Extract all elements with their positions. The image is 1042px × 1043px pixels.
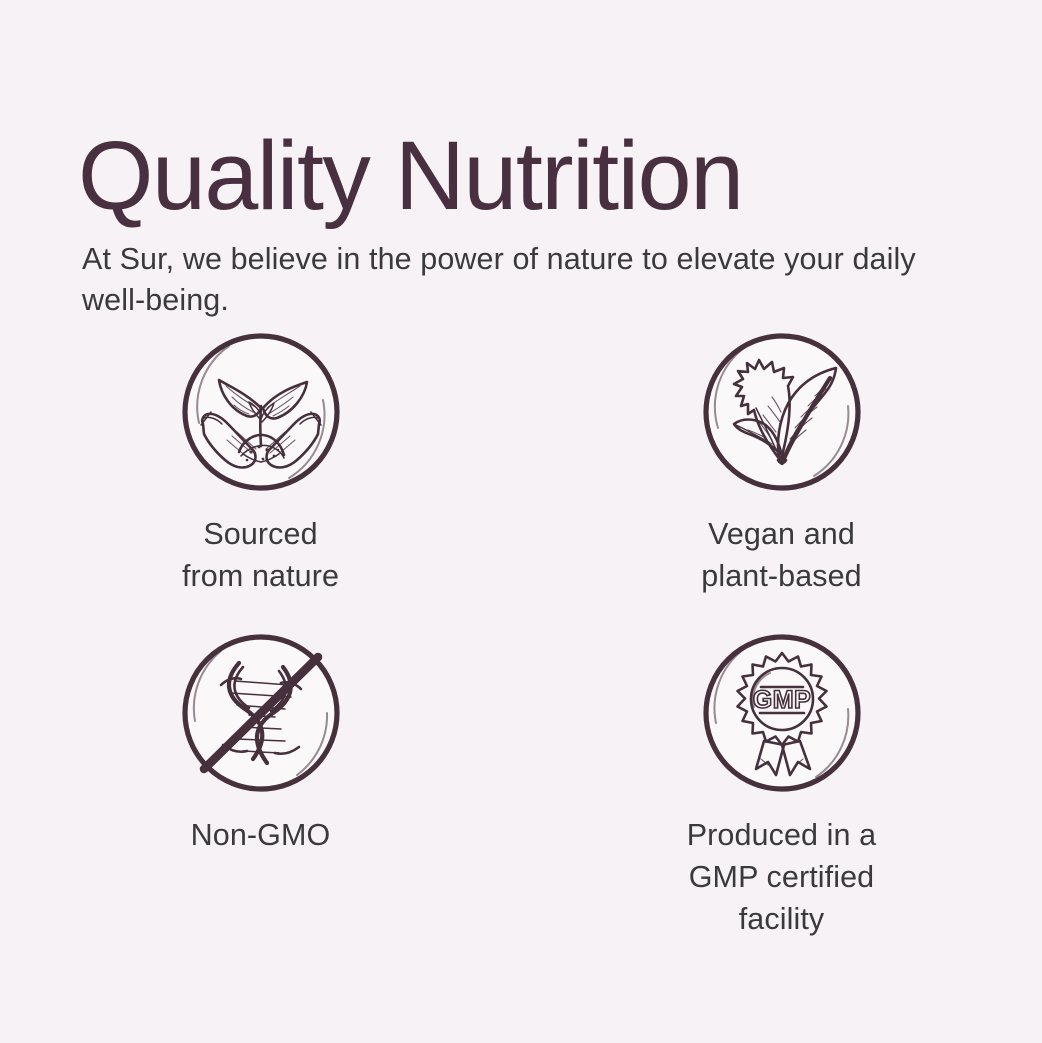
two-leaves-icon [698, 328, 866, 496]
no-gmo-dna-icon [177, 629, 345, 797]
page-title: Quality Nutrition [78, 127, 743, 224]
feature-sourced-from-nature: Sourced from nature [0, 328, 521, 597]
hands-holding-sprout-icon [177, 328, 345, 496]
page-subtitle: At Sur, we believe in the power of natur… [82, 239, 952, 321]
feature-label: Produced in a GMP certified facility [687, 814, 877, 940]
feature-grid: Sourced from nature [0, 328, 1042, 940]
quality-nutrition-panel: Quality Nutrition At Sur, we believe in … [0, 0, 1042, 1043]
feature-gmp-certified: GMP Produced in a GMP certified facility [521, 629, 1042, 940]
feature-label: Sourced from nature [182, 513, 339, 597]
gmp-seal-text: GMP [752, 686, 810, 714]
gmp-certified-seal-icon: GMP [698, 629, 866, 797]
feature-vegan-plant-based: Vegan and plant-based [521, 328, 1042, 597]
feature-non-gmo: Non-GMO [0, 629, 521, 940]
feature-label: Non-GMO [191, 814, 331, 856]
feature-label: Vegan and plant-based [701, 513, 862, 597]
